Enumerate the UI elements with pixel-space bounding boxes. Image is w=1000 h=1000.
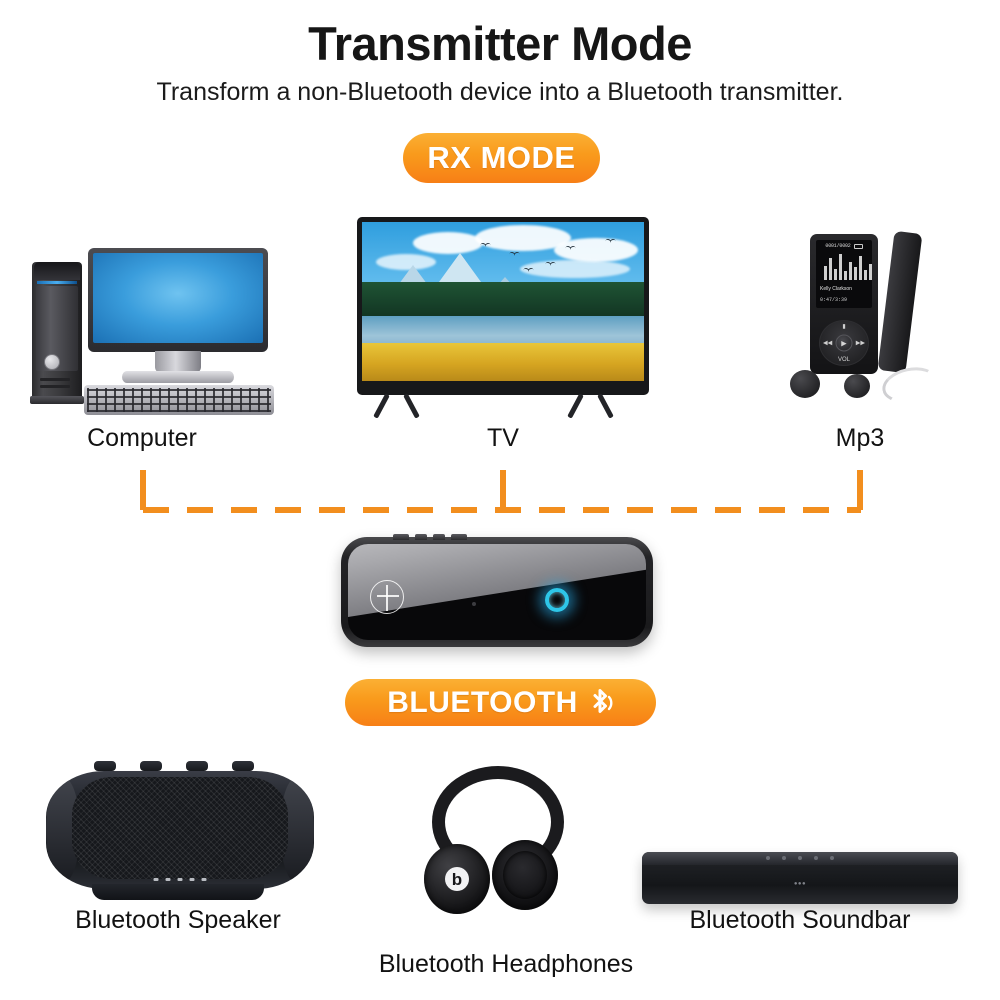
ear-pad <box>503 851 547 899</box>
screen-bird <box>565 246 576 252</box>
mp3-track-counter: 0001/0002 <box>825 243 850 249</box>
speaker-mesh-grille <box>72 777 288 879</box>
tv-screen <box>362 222 644 381</box>
page-subtitle: Transform a non-Bluetooth device into a … <box>0 78 1000 107</box>
mp3-time-display: 0:47/3:39 <box>820 297 847 303</box>
mp3-artist-name: Kelly Clarkson <box>820 286 852 292</box>
rx-mode-badge: RX MODE <box>403 133 600 183</box>
mp3-equalizer <box>824 252 872 280</box>
soundbar-top-panel <box>642 852 958 865</box>
bluetooth-label: BLUETOOTH <box>387 686 578 720</box>
earbud-right <box>844 374 870 398</box>
connector-line-horizontal <box>143 507 861 513</box>
infographic-page: Transmitter Mode Transform a non-Bluetoo… <box>0 0 1000 1000</box>
brand-logo-icon <box>370 580 404 614</box>
ear-cup-right <box>492 840 558 910</box>
battery-icon <box>854 244 863 249</box>
mp3-rear-shell <box>878 231 923 373</box>
connector-stub-computer <box>140 470 146 510</box>
connector-stub-mp3 <box>857 470 863 510</box>
tower-slot <box>40 385 70 388</box>
speaker-body <box>46 771 314 889</box>
soundbar-brand-logo: ●●● <box>794 881 806 887</box>
screen-bird <box>605 239 616 245</box>
screen-bird <box>545 262 556 268</box>
mp3-screen: 0001/0002 Kelly Clarkson 0:47/3:39 <box>816 240 872 308</box>
ear-cup-left: b <box>424 844 490 914</box>
mp3-body: 0001/0002 Kelly Clarkson 0:47/3:39 ▮ ◀◀ … <box>810 234 878 374</box>
power-button-icon <box>44 354 60 370</box>
tv-frame <box>357 217 649 395</box>
output-label-speaker: Bluetooth Speaker <box>28 906 328 935</box>
bluetooth-soundbar-icon: ●●● <box>642 852 958 904</box>
screen-field <box>362 343 644 381</box>
mp3-play-button: ▶ <box>836 335 853 352</box>
tower-top-cap <box>34 262 80 280</box>
tower-slot <box>40 378 70 381</box>
rx-mode-label: RX MODE <box>427 140 575 176</box>
bluetooth-transmitter-adapter <box>341 531 653 651</box>
soundbar-buttons <box>766 856 834 860</box>
screen-cloud <box>413 232 483 254</box>
output-label-soundbar: Bluetooth Soundbar <box>650 906 950 935</box>
monitor-frame <box>88 248 268 352</box>
screen-bird <box>523 268 534 274</box>
earbud-left <box>790 370 820 398</box>
desktop-computer-icon <box>12 248 274 408</box>
microphone-icon <box>472 602 476 606</box>
mp3-status-bar: 0001/0002 <box>816 242 872 250</box>
output-label-headphones: Bluetooth Headphones <box>356 950 656 979</box>
tower-base <box>30 396 84 404</box>
bluetooth-speaker-icon <box>34 757 324 902</box>
screen-bird <box>509 252 520 258</box>
monitor-screen <box>93 253 263 343</box>
monitor-base <box>122 371 234 383</box>
source-label-tv: TV <box>403 424 603 453</box>
source-label-mp3: Mp3 <box>760 424 960 453</box>
speaker-foot <box>92 884 264 900</box>
soundbar-body: ●●● <box>642 852 958 904</box>
connector-stub-tv <box>500 470 506 510</box>
tv-foot-left <box>379 393 435 417</box>
screen-forest <box>362 282 644 317</box>
monitor-neck <box>155 351 201 373</box>
source-label-computer: Computer <box>32 424 252 453</box>
television-icon <box>357 217 649 417</box>
mp3-control-wheel: ▮ ◀◀ ▶▶ VOL ▶ <box>819 320 869 366</box>
tower-accent-stripe <box>37 281 77 284</box>
brand-logo-icon: b <box>445 867 469 891</box>
adapter-face <box>348 544 646 640</box>
page-title: Transmitter Mode <box>0 16 1000 71</box>
screen-bird <box>480 243 491 249</box>
keyboard-icon <box>84 385 274 415</box>
bluetooth-headphones-icon: b <box>418 766 594 916</box>
mp3-player-icon: 0001/0002 Kelly Clarkson 0:47/3:39 ▮ ◀◀ … <box>786 228 946 408</box>
bluetooth-icon <box>588 687 614 719</box>
adapter-top-buttons <box>393 531 467 540</box>
pc-tower <box>32 262 82 399</box>
tv-foot-right <box>573 393 629 417</box>
adapter-shell <box>341 537 653 647</box>
speaker-battery-leds <box>154 878 207 881</box>
status-led-indicator <box>545 588 569 612</box>
keyboard-keys <box>87 388 271 412</box>
bluetooth-badge: BLUETOOTH <box>345 679 656 726</box>
